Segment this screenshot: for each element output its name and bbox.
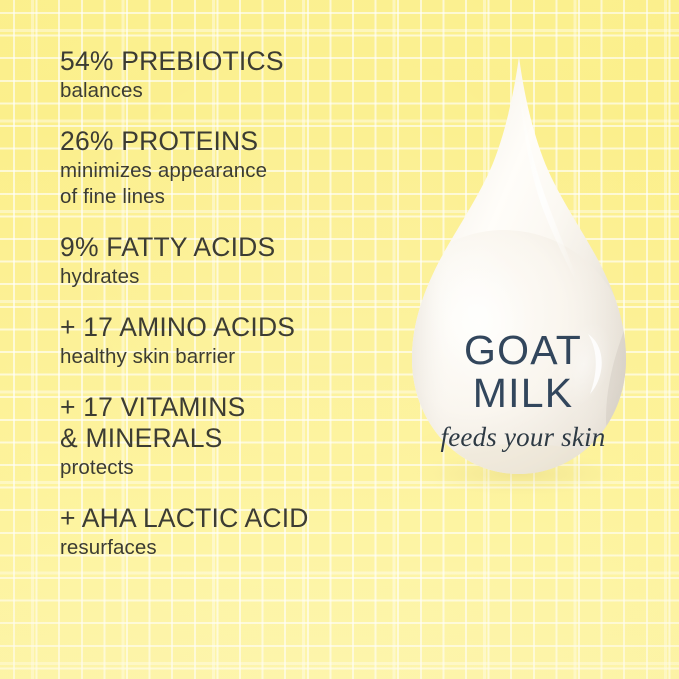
ingredient-benefit: protects [60, 455, 390, 481]
milk-droplet-icon [392, 46, 654, 546]
ingredient-benefit: minimizes appearance of fine lines [60, 158, 390, 210]
ingredient-infographic: 54% PREBIOTICS balances 26% PROTEINS min… [0, 0, 679, 679]
milk-droplet [392, 46, 654, 546]
ingredient-benefit: healthy skin barrier [60, 344, 390, 370]
ingredient-benefit: hydrates [60, 264, 390, 290]
ingredient-title: + AHA LACTIC ACID [60, 503, 390, 534]
ingredient-title: 54% PREBIOTICS [60, 46, 390, 77]
list-item: 26% PROTEINS minimizes appearance of fin… [60, 126, 390, 210]
list-item: 54% PREBIOTICS balances [60, 46, 390, 104]
ingredient-title: + 17 VITAMINS & MINERALS [60, 392, 390, 454]
ingredient-benefit: resurfaces [60, 535, 390, 561]
list-item: + 17 VITAMINS & MINERALS protects [60, 392, 390, 481]
ingredient-title: 9% FATTY ACIDS [60, 232, 390, 263]
ingredient-title: 26% PROTEINS [60, 126, 390, 157]
ingredient-list: 54% PREBIOTICS balances 26% PROTEINS min… [60, 46, 390, 561]
ingredient-title: + 17 AMINO ACIDS [60, 312, 390, 343]
list-item: + AHA LACTIC ACID resurfaces [60, 503, 390, 561]
ingredient-benefit: balances [60, 78, 390, 104]
list-item: + 17 AMINO ACIDS healthy skin barrier [60, 312, 390, 370]
list-item: 9% FATTY ACIDS hydrates [60, 232, 390, 290]
